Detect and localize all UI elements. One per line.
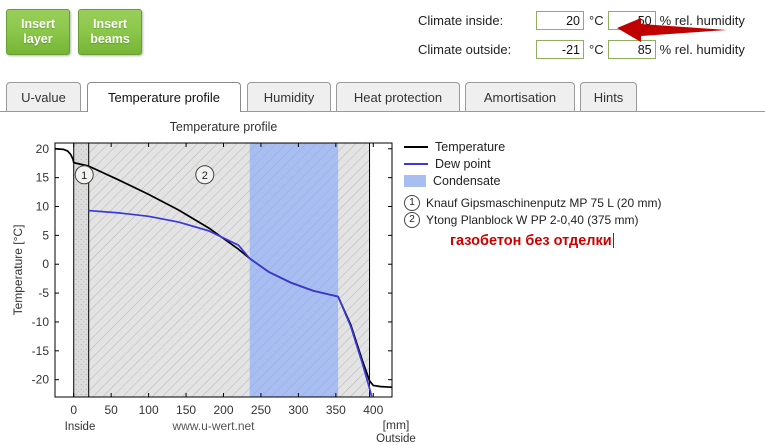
layer-badge-1: 1 xyxy=(75,166,93,184)
x-tick-label: 400 xyxy=(363,403,383,417)
climate-inside-temp-input[interactable] xyxy=(536,11,584,30)
legend-item-dew-point: Dew point xyxy=(404,155,754,172)
tab-humidity[interactable]: Humidity xyxy=(247,82,331,111)
legend-material-1: 1 Knauf Gipsmaschinenputz MP 75 L (20 mm… xyxy=(404,194,754,211)
watermark: www.u-wert.net xyxy=(171,419,255,433)
condensate-box-swatch xyxy=(404,175,426,187)
tab-heat-protection[interactable]: Heat protection xyxy=(336,82,460,111)
climate-outside-label: Climate outside: xyxy=(418,42,536,57)
y-tick-label: -15 xyxy=(32,344,50,358)
y-tick-label: 5 xyxy=(42,228,49,242)
climate-inside-humidity-input[interactable] xyxy=(608,11,656,30)
tab-label: Hints xyxy=(594,90,624,105)
legend-material-2: 2 Ytong Planblock W PP 2-0,40 (375 mm) xyxy=(404,211,754,228)
tab-temperature-profile[interactable]: Temperature profile xyxy=(87,82,241,112)
outside-label: Outside xyxy=(376,433,416,445)
y-tick-label: 15 xyxy=(36,171,50,185)
condensate-zone xyxy=(250,143,338,397)
chart-title: Temperature profile xyxy=(170,120,278,134)
tab-label: Temperature profile xyxy=(108,90,220,105)
climate-inside-label: Climate inside: xyxy=(418,13,536,28)
tab-label: Heat protection xyxy=(354,90,442,105)
climate-inside-humidity-unit: % rel. humidity xyxy=(660,13,745,28)
temperature-line-swatch xyxy=(404,146,428,148)
x-tick-label: 0 xyxy=(70,403,77,417)
legend-label-dew-point: Dew point xyxy=(435,157,491,171)
insert-button-group: Insertlayer Insertbeams xyxy=(6,9,142,55)
climate-inside-temp-unit: °C xyxy=(589,13,604,28)
dew-point-line-swatch xyxy=(404,163,428,165)
layer-badge-2: 2 xyxy=(196,166,214,184)
inside-label: Inside xyxy=(65,421,96,433)
material-number-2: 2 xyxy=(404,212,420,228)
y-tick-label: 20 xyxy=(36,142,50,156)
tab-label: U-value xyxy=(21,90,66,105)
tab-label: Amortisation xyxy=(484,90,556,105)
x-tick-label: 50 xyxy=(104,403,118,417)
y-tick-label: -10 xyxy=(32,315,50,329)
text: 2 xyxy=(202,170,208,182)
tab-bar: U-valueTemperature profileHumidityHeat p… xyxy=(0,82,765,112)
legend-label-temperature: Temperature xyxy=(435,140,505,154)
material-number-1: 1 xyxy=(404,195,420,211)
climate-outside-row: Climate outside: °C % rel. humidity xyxy=(418,37,745,62)
legend-item-temperature: Temperature xyxy=(404,138,754,155)
material-name-2: Ytong Planblock W PP 2-0,40 (375 mm) xyxy=(426,213,639,227)
x-tick-label: 100 xyxy=(139,403,159,417)
tab-amortisation[interactable]: Amortisation xyxy=(465,82,575,111)
climate-outside-temp-unit: °C xyxy=(589,42,604,57)
tab-u-value[interactable]: U-value xyxy=(6,82,81,111)
climate-outside-humidity-unit: % rel. humidity xyxy=(660,42,745,57)
x-tick-label: 350 xyxy=(326,403,346,417)
climate-settings: Climate inside: °C % rel. humidity Clima… xyxy=(418,8,745,66)
x-tick-label: 200 xyxy=(213,403,233,417)
insert-beams-button[interactable]: Insertbeams xyxy=(78,9,142,55)
climate-outside-temp-input[interactable] xyxy=(536,40,584,59)
insert-beams-label: Insertbeams xyxy=(90,17,130,47)
x-tick-label: 250 xyxy=(251,403,271,417)
text-caret xyxy=(613,233,614,248)
y-tick-label: -20 xyxy=(32,373,50,387)
material-name-1: Knauf Gipsmaschinenputz MP 75 L (20 mm) xyxy=(426,196,661,210)
legend-item-condensate: Condensate xyxy=(404,172,754,189)
y-tick-label: 10 xyxy=(36,200,50,214)
toolbar: Insertlayer Insertbeams Climate inside: … xyxy=(0,0,765,78)
insert-layer-label: Insertlayer xyxy=(21,17,55,47)
user-annotation: газобетон без отделки xyxy=(450,233,754,249)
x-tick-label: 150 xyxy=(176,403,196,417)
tab-hints[interactable]: Hints xyxy=(580,82,637,111)
text: 1 xyxy=(81,170,87,182)
y-axis-label: Temperature [°C] xyxy=(11,225,25,316)
chart-legend: Temperature Dew point Condensate 1 Knauf… xyxy=(404,138,754,249)
insert-layer-button[interactable]: Insertlayer xyxy=(6,9,70,55)
y-tick-label: 0 xyxy=(42,257,49,271)
climate-outside-humidity-input[interactable] xyxy=(608,40,656,59)
x-axis-label: [mm] xyxy=(383,418,410,432)
tab-label: Humidity xyxy=(264,90,315,105)
legend-label-condensate: Condensate xyxy=(433,174,500,188)
x-tick-label: 300 xyxy=(288,403,308,417)
climate-inside-row: Climate inside: °C % rel. humidity xyxy=(418,8,745,33)
uwert-app: Insertlayer Insertbeams Climate inside: … xyxy=(0,0,765,445)
y-tick-label: -5 xyxy=(38,286,49,300)
user-annotation-text: газобетон без отделки xyxy=(450,233,612,249)
